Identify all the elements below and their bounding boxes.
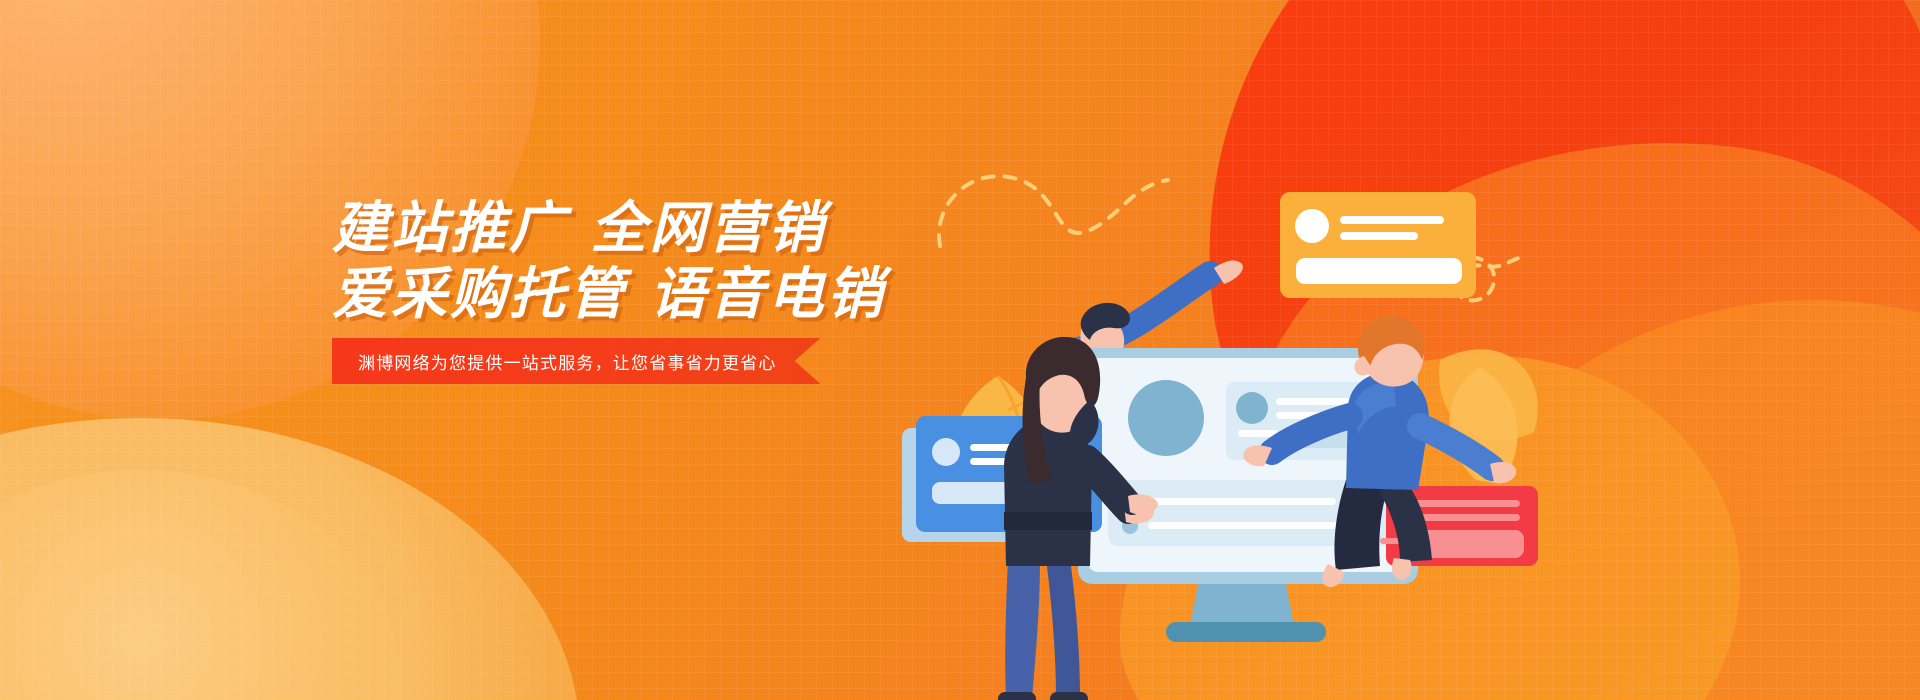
tagline-ribbon: 渊博网络为您提供一站式服务，让您省事省力更省心 — [332, 338, 821, 384]
promo-banner: 建站推广 全网营销 爱采购托管 语音电销 渊博网络为您提供一站式服务，让您省事省… — [0, 0, 1920, 700]
dashed-trail-left — [939, 176, 1168, 246]
hero-illustration — [880, 60, 1580, 620]
profile-card-yellow — [1280, 192, 1476, 298]
tagline-text: 渊博网络为您提供一站式服务，让您省事省力更省心 — [358, 349, 777, 374]
